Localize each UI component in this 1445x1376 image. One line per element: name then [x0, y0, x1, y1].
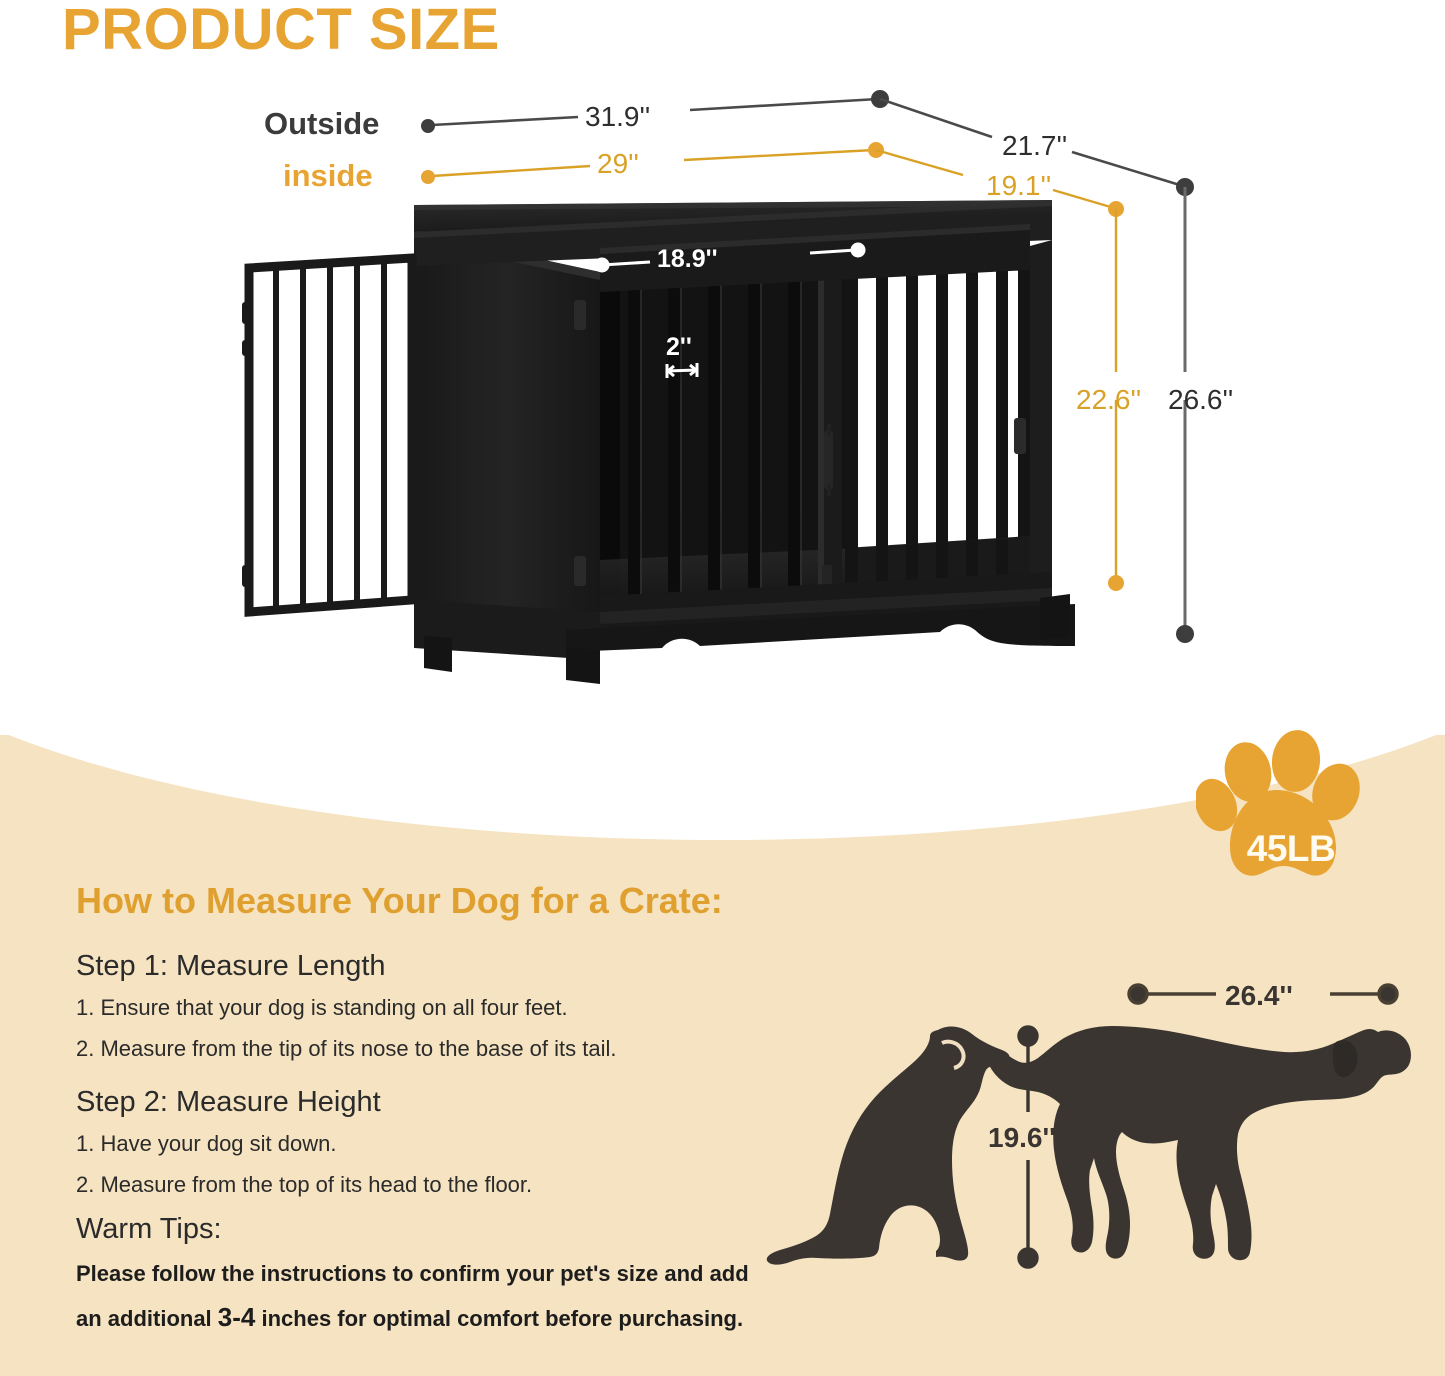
- step2-line-1: 1. Have your dog sit down.: [76, 1131, 336, 1157]
- outside-height-dimension: 26.6'': [1168, 384, 1233, 416]
- step1-line-2: 2. Measure from the tip of its nose to t…: [76, 1036, 617, 1062]
- outside-width-dimension: 31.9'': [585, 101, 650, 133]
- outside-legend-label: Outside: [264, 106, 379, 142]
- dog-length-dimension: 26.4'': [1225, 980, 1293, 1012]
- outside-depth-dimension: 21.7'': [1002, 130, 1067, 162]
- bar-spacing-dimension: 2'': [666, 333, 692, 362]
- step2-line-2: 2. Measure from the top of its head to t…: [76, 1172, 532, 1198]
- warm-tips-heading: Warm Tips:: [76, 1213, 222, 1246]
- warm-tips-inches-emphasis: 3-4: [218, 1302, 256, 1332]
- inside-width-dimension: 29'': [597, 148, 639, 180]
- step1-line-1: 1. Ensure that your dog is standing on a…: [76, 995, 568, 1021]
- inside-legend-label: inside: [283, 158, 373, 194]
- inside-height-dimension: 22.6'': [1076, 384, 1141, 416]
- dog-height-dimension: 19.6'': [988, 1122, 1056, 1154]
- paw-print-icon: 45LB: [1196, 728, 1386, 888]
- inside-depth-dimension: 19.1'': [986, 170, 1051, 202]
- step1-heading: Step 1: Measure Length: [76, 950, 386, 983]
- warm-tips-line2-pre: an additional: [76, 1306, 218, 1331]
- weight-badge-label: 45LB: [1196, 828, 1386, 870]
- warm-tips-line2-post: inches for optimal comfort before purcha…: [255, 1306, 743, 1331]
- door-width-dimension: 18.9'': [657, 245, 718, 274]
- measure-section-heading: How to Measure Your Dog for a Crate:: [76, 880, 723, 922]
- step2-heading: Step 2: Measure Height: [76, 1086, 381, 1119]
- infographic-stage: PRODUCT SIZE Outside inside: [0, 0, 1445, 1376]
- page-title: PRODUCT SIZE: [62, 0, 500, 63]
- warm-tips-line-1: Please follow the instructions to confir…: [76, 1261, 749, 1287]
- warm-tips-line-2: an additional 3-4 inches for optimal com…: [76, 1302, 743, 1333]
